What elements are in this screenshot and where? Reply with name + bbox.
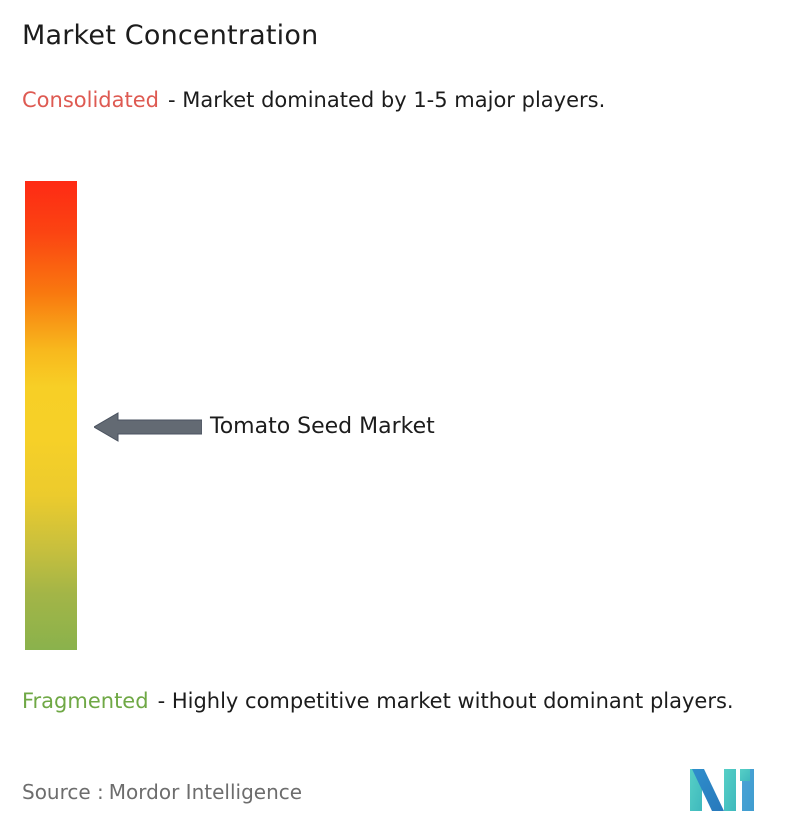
market-position-arrow-icon <box>94 409 202 445</box>
page-title: Market Concentration <box>22 20 318 51</box>
market-position-label: Tomato Seed Market <box>210 412 435 442</box>
source-attribution: Source :Mordor Intelligence <box>22 780 302 804</box>
mordor-intelligence-logo-icon <box>690 767 762 813</box>
legend-consolidated-description: - Market dominated by 1-5 major players. <box>168 88 605 112</box>
legend-fragmented-description: - Highly competitive market without domi… <box>158 689 734 713</box>
source-name: Mordor Intelligence <box>109 780 302 804</box>
legend-consolidated: Consolidated- Market dominated by 1-5 ma… <box>22 84 782 116</box>
legend-fragmented: Fragmented- Highly competitive market wi… <box>22 685 792 717</box>
market-concentration-gradient-scale <box>25 181 77 650</box>
market-concentration-infographic: Market Concentration Consolidated- Marke… <box>0 0 796 834</box>
source-label: Source : <box>22 780 104 804</box>
legend-consolidated-keyword: Consolidated <box>22 88 159 112</box>
legend-fragmented-keyword: Fragmented <box>22 689 149 713</box>
